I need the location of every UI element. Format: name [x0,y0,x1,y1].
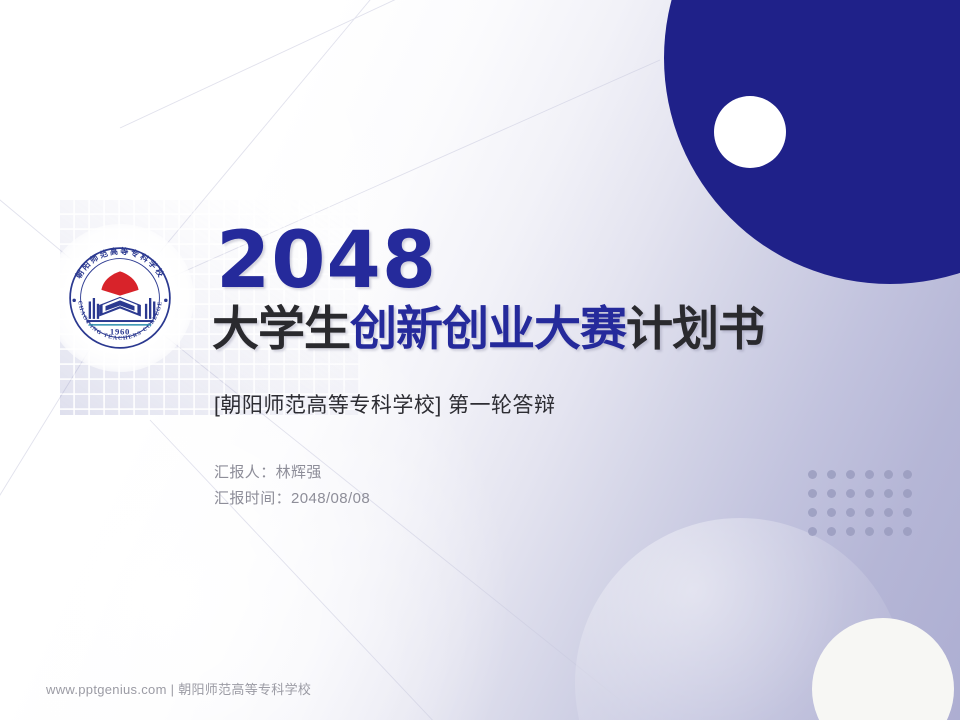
grid-dot [884,527,893,536]
college-logo: 朝阳师范高等专科学校 CHAOYANG TEACHERS COLLEGE [46,224,194,372]
grid-dot [827,527,836,536]
grid-dot [865,527,874,536]
logo-founded-year: 1960 [110,327,130,337]
college-emblem-icon: 朝阳师范高等专科学校 CHAOYANG TEACHERS COLLEGE [62,240,178,356]
headline-part-3: 计划书 [626,302,764,355]
presentation-date: 汇报时间：2048/08/08 [214,486,912,512]
grid-dot [846,527,855,536]
page-title: 大学生创新创业大赛计划书 [212,304,912,353]
presenter-meta: 汇报人：林辉强 汇报时间：2048/08/08 [214,460,912,512]
year-heading: 2048 [216,222,912,300]
headline-part-1: 大学生 [212,302,350,355]
presentation-title-slide: 朝阳师范高等专科学校 CHAOYANG TEACHERS COLLEGE [0,0,960,720]
headline-part-2: 创新创业大赛 [350,302,626,355]
grid-dot [808,527,817,536]
subtitle: [朝阳师范高等专科学校] 第一轮答辩 [214,389,912,419]
title-text-block: 2048 大学生创新创业大赛计划书 [朝阳师范高等专科学校] 第一轮答辩 汇报人… [212,222,912,512]
grid-dot [903,527,912,536]
footer-credit: www.pptgenius.com | 朝阳师范高等专科学校 [46,679,311,698]
presenter-name: 汇报人：林辉强 [214,460,912,486]
decor-circle-white-small [714,96,786,168]
